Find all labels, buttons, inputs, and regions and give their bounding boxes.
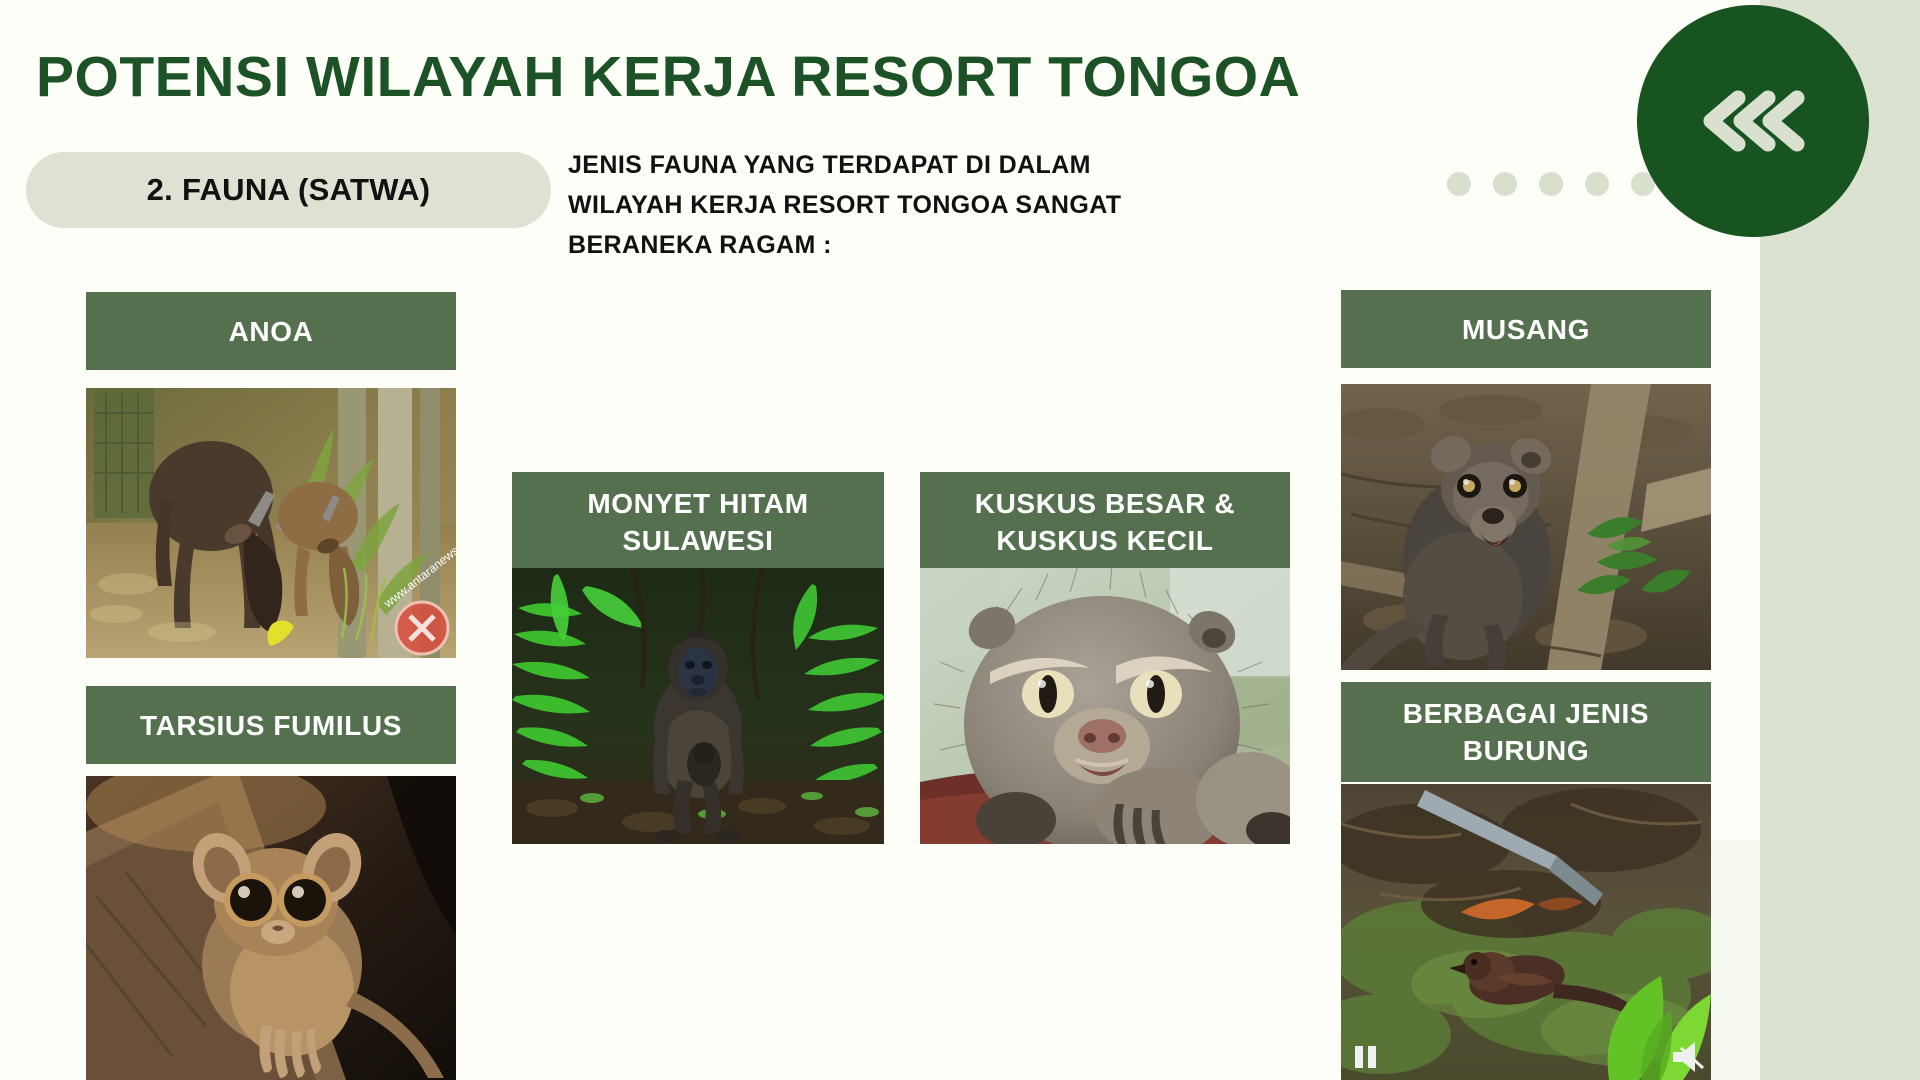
card-label-musang-text: MUSANG <box>1462 311 1590 348</box>
card-label-burung: BERBAGAI JENIS BURUNG <box>1341 682 1711 782</box>
card-label-monyet-line1: MONYET HITAM <box>587 485 808 522</box>
pager-dots <box>1447 172 1655 196</box>
card-photo-burung[interactable] <box>1341 784 1711 1080</box>
page-title: POTENSI WILAYAH KERJA RESORT TONGOA <box>36 44 1300 110</box>
card-label-kuskus: KUSKUS BESAR & KUSKUS KECIL <box>920 472 1290 572</box>
card-label-burung-line2: BURUNG <box>1403 732 1649 769</box>
triple-chevron-left-icon <box>1698 88 1808 154</box>
card-label-kuskus-line1: KUSKUS BESAR & <box>975 485 1235 522</box>
previous-slide-button[interactable] <box>1637 5 1869 237</box>
card-photo-musang[interactable] <box>1341 384 1711 670</box>
card-label-monyet-line2: SULAWESI <box>587 522 808 559</box>
pager-dot-1[interactable] <box>1447 172 1471 196</box>
presentation-slide: POTENSI WILAYAH KERJA RESORT TONGOA 2. F… <box>0 0 1920 1080</box>
intro-paragraph: JENIS FAUNA YANG TERDAPAT DI DALAM WILAY… <box>568 145 1333 265</box>
card-label-tarsius-text: TARSIUS FUMILUS <box>140 707 402 744</box>
card-photo-anoa[interactable]: www.antaranews.com <box>86 388 456 658</box>
pager-dot-2[interactable] <box>1493 172 1517 196</box>
card-label-tarsius: TARSIUS FUMILUS <box>86 686 456 764</box>
card-photo-tarsius[interactable] <box>86 776 456 1080</box>
intro-line-3: BERANEKA RAGAM : <box>568 225 1333 265</box>
card-label-anoa: ANOA <box>86 292 456 370</box>
card-label-monyet-hitam-sulawesi: MONYET HITAM SULAWESI <box>512 472 884 572</box>
section-pill: 2. FAUNA (SATWA) <box>26 152 551 228</box>
intro-line-2: WILAYAH KERJA RESORT TONGOA SANGAT <box>568 185 1333 225</box>
pager-dot-3[interactable] <box>1539 172 1563 196</box>
card-photo-monyet-hitam-sulawesi[interactable] <box>512 568 884 844</box>
intro-line-1: JENIS FAUNA YANG TERDAPAT DI DALAM <box>568 145 1333 185</box>
card-label-kuskus-line2: KUSKUS KECIL <box>975 522 1235 559</box>
section-pill-label: 2. FAUNA (SATWA) <box>147 172 431 208</box>
card-label-burung-line1: BERBAGAI JENIS <box>1403 695 1649 732</box>
card-label-musang: MUSANG <box>1341 290 1711 368</box>
pager-dot-4[interactable] <box>1585 172 1609 196</box>
card-photo-kuskus[interactable] <box>920 568 1290 844</box>
card-label-anoa-text: ANOA <box>229 313 314 350</box>
